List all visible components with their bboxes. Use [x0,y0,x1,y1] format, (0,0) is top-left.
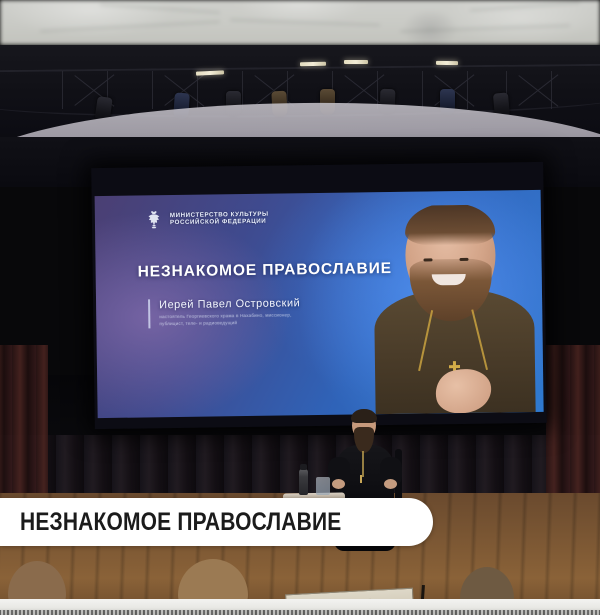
stage-curtain-right [546,345,600,510]
stage-curtain-left [0,345,48,510]
photo-post: МИНИСТЕРСТВО КУЛЬТУРЫ РОССИЙСКОЙ ФЕДЕРАЦ… [0,0,600,615]
strip-light [436,61,458,65]
drinking-glass [316,477,330,495]
caption-banner-text: НЕЗНАКОМОЕ ПРАВОСЛАВИЕ [20,508,341,537]
ceiling-area [0,45,600,165]
presentation-slide: МИНИСТЕРСТВО КУЛЬТУРЫ РОССИЙСКОЙ ФЕДЕРАЦ… [95,190,544,418]
caption-banner: НЕЗНАКОМОЕ ПРАВОСЛАВИЕ [0,498,433,546]
strip-light [344,60,368,64]
top-blurred-backdrop-band [0,0,600,45]
double-headed-eagle-icon [145,209,163,229]
water-bottle-cap [300,464,307,470]
slide-title: НЕЗНАКОМОЕ ПРАВОСЛАВИЕ [138,260,393,282]
ministry-line-2: РОССИЙСКОЙ ФЕДЕРАЦИИ [170,218,269,227]
ministry-logo-lockup: МИНИСТЕРСТВО КУЛЬТУРЫ РОССИЙСКОЙ ФЕДЕРАЦ… [145,208,269,230]
slide-portrait-photo [367,204,538,414]
slide-speaker-name: Иерей Павел Островский [159,297,309,311]
strip-light [300,62,326,66]
water-bottle [299,469,308,495]
slide-speaker-block: Иерей Павел Островский настоятель Георги… [148,297,309,328]
projection-screen: МИНИСТЕРСТВО КУЛЬТУРЫ РОССИЙСКОЙ ФЕДЕРАЦ… [91,162,547,429]
slide-speaker-roles: настоятель Георгиевского храма в Нахабин… [159,312,309,328]
bottom-noise-strip [0,610,600,615]
